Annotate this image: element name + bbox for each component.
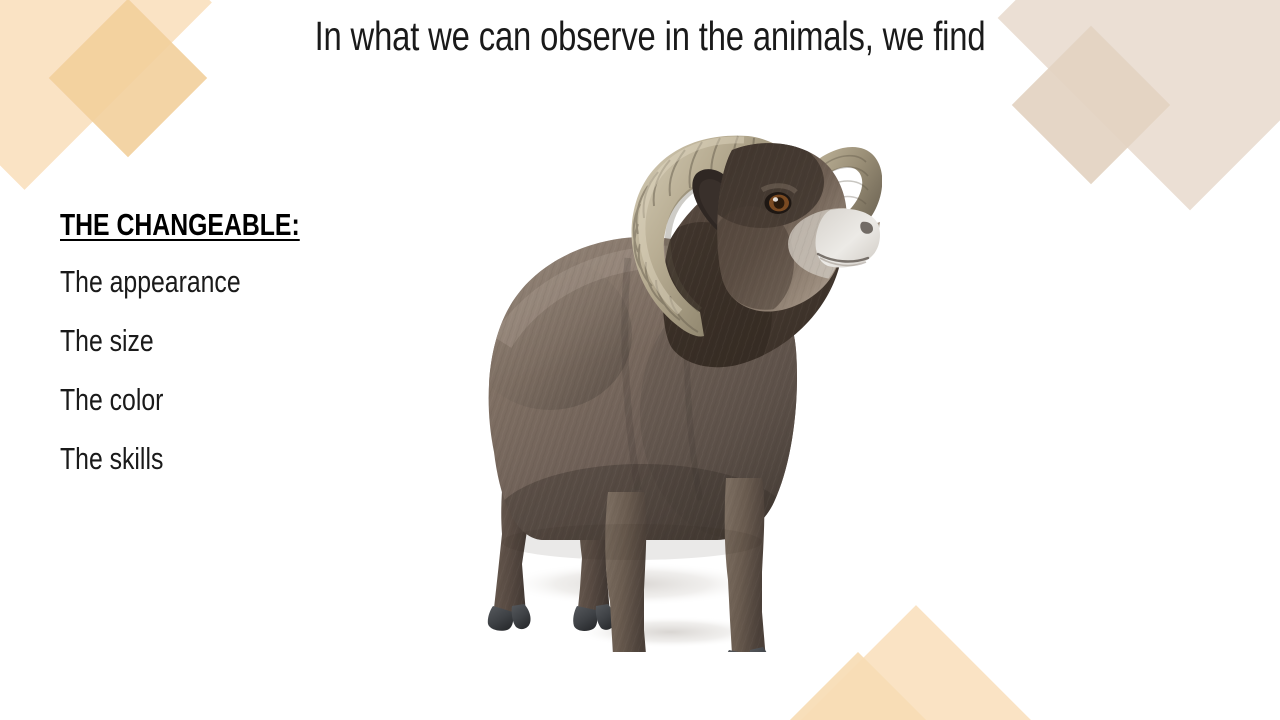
top-left-small-diamond: [49, 0, 207, 157]
bighorn-ram-image: [432, 72, 882, 652]
hoof: [573, 606, 597, 631]
bottom-small-diamond: [776, 652, 940, 720]
top-left-large-diamond: [0, 0, 212, 190]
hoof: [512, 604, 531, 629]
presentation-slide: In what we can observe in the animals, w…: [0, 0, 1280, 720]
list-item: The color: [60, 384, 324, 415]
ram-eye: [765, 192, 792, 214]
top-right-small-diamond: [1012, 26, 1170, 184]
top-right-large-diamond: [998, 0, 1280, 210]
ram-muzzle: [816, 209, 881, 268]
list-item: The skills: [60, 443, 324, 474]
page-title: In what we can observe in the animals, w…: [290, 12, 1010, 60]
list-item: The appearance: [60, 266, 324, 297]
list-item: The size: [60, 325, 324, 356]
changeable-heading: THE CHANGEABLE:: [60, 206, 324, 245]
changeable-text-block: THE CHANGEABLE: The appearance The size …: [60, 206, 390, 502]
